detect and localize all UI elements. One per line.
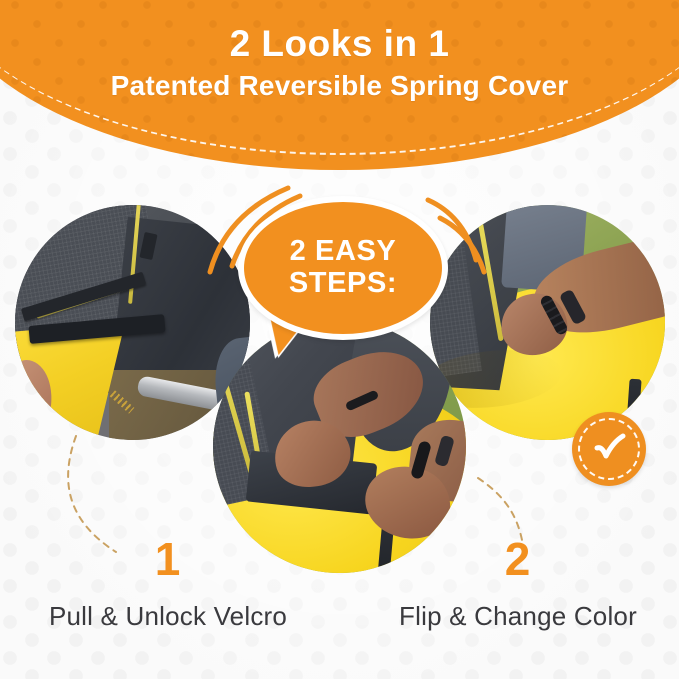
step-1-number: 1 <box>8 536 328 582</box>
callout-line-1: 2 EASY <box>289 235 397 267</box>
callout-bubble: 2 EASY STEPS: <box>238 196 448 340</box>
step-1-label: Pull & Unlock Velcro <box>8 602 328 631</box>
check-badge <box>572 412 646 486</box>
header-text-group: 2 Looks in 1 Patented Reversible Spring … <box>0 0 679 102</box>
step-2-label: Flip & Change Color <box>358 602 678 631</box>
step-2-number: 2 <box>358 536 678 582</box>
step-1: 1 Pull & Unlock Velcro <box>8 536 328 631</box>
callout-line-2: STEPS: <box>289 267 397 299</box>
check-icon <box>589 429 629 469</box>
callout-text: 2 EASY STEPS: <box>289 235 397 300</box>
step-2: 2 Flip & Change Color <box>358 536 678 631</box>
promo-infographic: 2 Looks in 1 Patented Reversible Spring … <box>0 0 679 679</box>
page-title: 2 Looks in 1 <box>0 0 679 64</box>
page-subtitle: Patented Reversible Spring Cover <box>0 64 679 102</box>
easy-steps-callout: 2 EASY STEPS: <box>238 196 448 376</box>
